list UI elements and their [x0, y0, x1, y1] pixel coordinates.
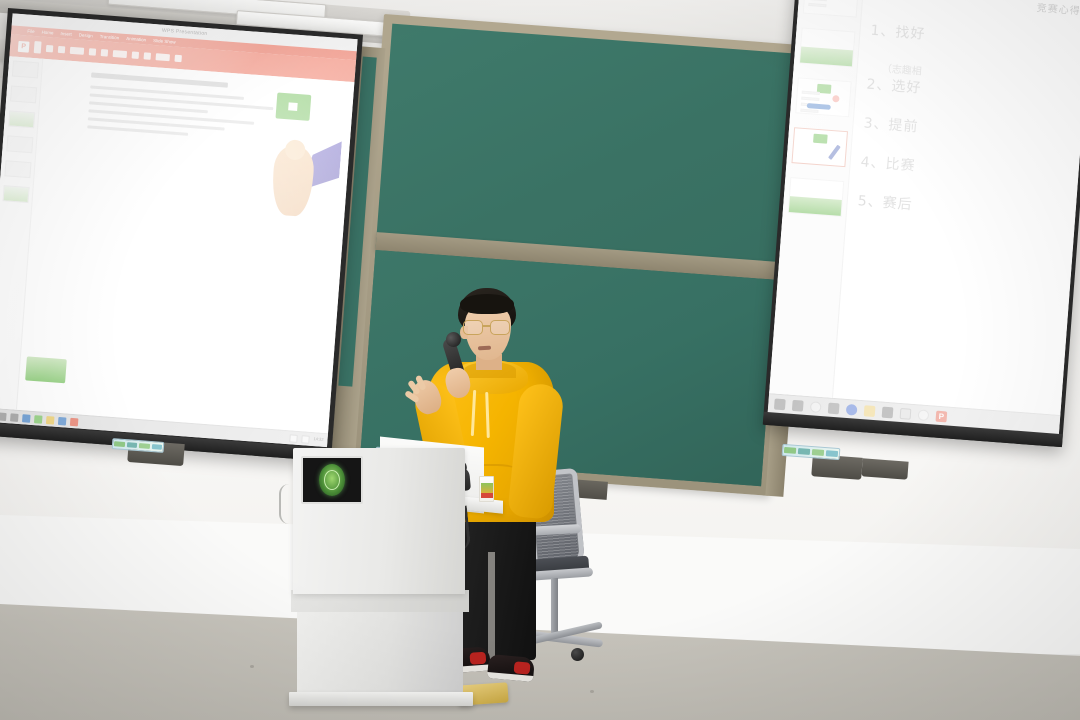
- powerpoint-icon[interactable]: P: [935, 411, 947, 423]
- slide-thumbnail[interactable]: [11, 60, 38, 78]
- ribbon-button[interactable]: [132, 51, 140, 59]
- powerpoint-logo-icon: P: [18, 40, 30, 52]
- ppt-tab-slideshow[interactable]: Slide Show: [153, 38, 176, 45]
- lens-left: [463, 320, 483, 335]
- cortana-icon[interactable]: [810, 401, 822, 413]
- slide-green-badge-icon: [275, 92, 311, 120]
- mouth: [478, 346, 491, 351]
- circle-icon[interactable]: [918, 409, 930, 421]
- taskbar-clock[interactable]: 14:32: [313, 438, 323, 443]
- slide-thumbnail[interactable]: [6, 135, 33, 153]
- slide-list-item: 5、赛后: [857, 190, 1070, 226]
- list-item-text: 比赛: [885, 156, 916, 174]
- word-icon[interactable]: [46, 416, 55, 425]
- store-icon[interactable]: [882, 407, 894, 419]
- ribbon-button[interactable]: [58, 45, 66, 53]
- ppt-tab-insert[interactable]: Insert: [60, 31, 72, 37]
- browser-icon[interactable]: [34, 415, 43, 424]
- classroom-scene: WPS Presentation File Home Insert Design…: [0, 0, 1080, 720]
- list-item-number: 3、: [863, 115, 889, 133]
- ppt-slide-canvas[interactable]: [17, 59, 355, 433]
- slide-thumbnail[interactable]: [8, 110, 35, 128]
- ppt-workspace: [0, 56, 354, 433]
- list-item-number: 4、: [860, 154, 886, 172]
- shoe-accent: [514, 661, 531, 674]
- slide-thumbnail[interactable]: [802, 0, 859, 18]
- slide-bullet-list: 1、找好 （志趣相 2、选好 3、提前 4、比赛: [857, 20, 1080, 226]
- list-item-text: 提前: [888, 117, 919, 135]
- slide-badge-icon: [813, 134, 828, 144]
- lens-right: [490, 320, 510, 335]
- ribbon-button[interactable]: [156, 53, 170, 61]
- right-ppt-workspace: 竞赛心得 1、找好 （志趣相 2、选好 3、提前: [769, 0, 1080, 415]
- floor-speck: [590, 690, 594, 693]
- screen-wall-mount: [861, 458, 908, 479]
- shoe-right: [487, 654, 535, 682]
- slide-photo-band: [788, 196, 841, 215]
- left-screen-content: WPS Presentation File Home Insert Design…: [0, 13, 358, 447]
- leg-gap: [488, 552, 495, 660]
- ppt-tab-file[interactable]: File: [27, 29, 35, 35]
- slide-title: 竞赛心得: [873, 0, 1080, 18]
- chair-caster: [571, 648, 584, 661]
- slide-text-line: [88, 125, 189, 136]
- slide-thumbnail[interactable]: [787, 177, 844, 217]
- list-item-text: 赛后: [882, 195, 913, 213]
- ppt-title-text: WPS Presentation: [162, 28, 208, 37]
- left-projection-screen[interactable]: WPS Presentation File Home Insert Design…: [0, 8, 363, 461]
- hair-fringe: [460, 294, 514, 314]
- lectern-base: [297, 608, 463, 696]
- slide-illustration: [258, 134, 342, 222]
- volume-icon[interactable]: [301, 435, 310, 444]
- list-item-number: 5、: [857, 193, 883, 211]
- explorer-icon[interactable]: [22, 414, 31, 423]
- slide-title-placeholder: [91, 72, 227, 87]
- list-item-number: 2、: [866, 77, 892, 95]
- ppt-tab-design[interactable]: Design: [79, 32, 93, 38]
- right-projection-screen[interactable]: 演示文稿: [763, 0, 1080, 447]
- slide-thumbnail[interactable]: [798, 27, 855, 67]
- cup-graphic: [481, 483, 494, 493]
- list-item-number: 1、: [870, 23, 896, 41]
- edge-icon[interactable]: [846, 404, 858, 416]
- university-emblem-icon: [319, 464, 345, 496]
- search-icon[interactable]: [792, 400, 804, 412]
- cup-graphic-accent: [481, 493, 494, 498]
- slide-text-line: [89, 109, 255, 124]
- lectern-cable: [279, 484, 293, 524]
- slide-thumbnail[interactable]: [795, 77, 852, 117]
- ribbon-button[interactable]: [144, 52, 152, 60]
- list-item-text: 选好: [891, 78, 922, 96]
- floor-speck: [250, 665, 254, 668]
- slide-list-item: 4、比赛: [860, 151, 1073, 187]
- slide-rows: [808, 0, 827, 10]
- start-icon[interactable]: [774, 399, 786, 411]
- ribbon-button[interactable]: [34, 41, 42, 53]
- lectern[interactable]: [283, 448, 489, 710]
- mail-icon[interactable]: [900, 408, 912, 420]
- powerpoint-icon[interactable]: [70, 417, 79, 426]
- ribbon-button[interactable]: [46, 44, 54, 52]
- ribbon-button[interactable]: [89, 48, 97, 56]
- ribbon-button[interactable]: [113, 50, 127, 58]
- glasses-bridge: [483, 325, 491, 327]
- lectern-footplate: [289, 692, 473, 706]
- media-icon[interactable]: [58, 416, 67, 425]
- slide-list-item: 3、提前: [863, 112, 1076, 148]
- slide-photo-band: [800, 47, 853, 66]
- ribbon-button[interactable]: [174, 54, 182, 62]
- slide-accent-dot: [832, 95, 840, 103]
- slide-footer-image: [25, 356, 67, 383]
- ribbon-button[interactable]: [70, 46, 84, 54]
- search-icon[interactable]: [0, 412, 7, 421]
- podium-control-screen[interactable]: [301, 456, 363, 504]
- slide-thumbnail-selected[interactable]: [791, 127, 848, 167]
- slide-thumbnail[interactable]: [10, 85, 37, 103]
- task-view-icon[interactable]: [10, 413, 19, 422]
- ppt-tab-animation[interactable]: Animation: [126, 36, 146, 42]
- ppt-tab-transition[interactable]: Transition: [99, 34, 119, 40]
- eyeglasses-icon: [462, 320, 512, 335]
- tray-icon[interactable]: [289, 434, 298, 443]
- ribbon-button[interactable]: [101, 49, 109, 57]
- right-slide-canvas[interactable]: 竞赛心得 1、找好 （志趣相 2、选好 3、提前: [833, 0, 1080, 415]
- ppt-tab-home[interactable]: Home: [41, 30, 53, 36]
- slide-thumbnail[interactable]: [4, 160, 31, 178]
- paper-cup[interactable]: [479, 476, 494, 502]
- explorer-icon[interactable]: [864, 405, 876, 417]
- task-view-icon[interactable]: [828, 403, 840, 415]
- list-item-text: 找好: [895, 25, 926, 43]
- pen-icon: [828, 145, 841, 160]
- right-screen-content: 演示文稿: [768, 0, 1080, 435]
- slide-thumbnail[interactable]: [2, 185, 29, 203]
